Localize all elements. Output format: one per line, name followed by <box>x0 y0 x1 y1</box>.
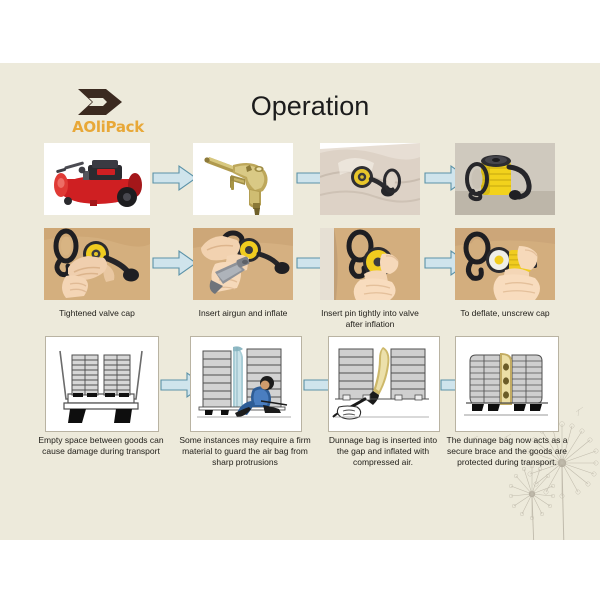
yellow-valve-assembly-photo <box>455 143 555 215</box>
arrow-chevron-logo-icon <box>76 87 124 117</box>
brand-logo: AOliPack <box>62 87 154 145</box>
unscrew-cap-photo <box>455 228 555 300</box>
caption-firm-material: Some instances may require a firm materi… <box>172 435 318 468</box>
caption-empty-space: Empty space between goods can cause dama… <box>38 435 164 457</box>
insert-dunnage-bag-illustration <box>328 336 440 432</box>
presentation-slide: AOliPack Operation <box>0 63 600 540</box>
firm-material-guard-illustration <box>190 336 302 432</box>
caption-insert-pin: Insert pin tightly into valve after infl… <box>314 308 426 330</box>
insert-airgun-photo <box>193 228 293 300</box>
air-compressor-photo <box>44 143 150 215</box>
secured-load-illustration <box>455 336 559 432</box>
caption-secure-brace: The dunnage bag now acts as a secure bra… <box>444 435 570 468</box>
caption-tightened-valve-cap: Tightened valve cap <box>38 308 156 319</box>
caption-dunnage-inserted: Dunnage bag is inserted into the gap and… <box>324 435 442 468</box>
insert-pin-photo <box>320 228 420 300</box>
page-title: Operation <box>180 91 440 122</box>
caption-to-deflate: To deflate, unscrew cap <box>452 308 558 319</box>
empty-space-pallets-illustration <box>45 336 159 432</box>
step-arrow-icon <box>152 163 198 193</box>
brand-name: AOliPack <box>62 118 154 136</box>
step-arrow-icon <box>152 248 198 278</box>
air-gun-photo <box>193 143 293 215</box>
caption-insert-airgun: Insert airgun and inflate <box>186 308 300 319</box>
valve-on-bag-photo <box>320 143 420 215</box>
tighten-valve-cap-photo <box>44 228 150 300</box>
